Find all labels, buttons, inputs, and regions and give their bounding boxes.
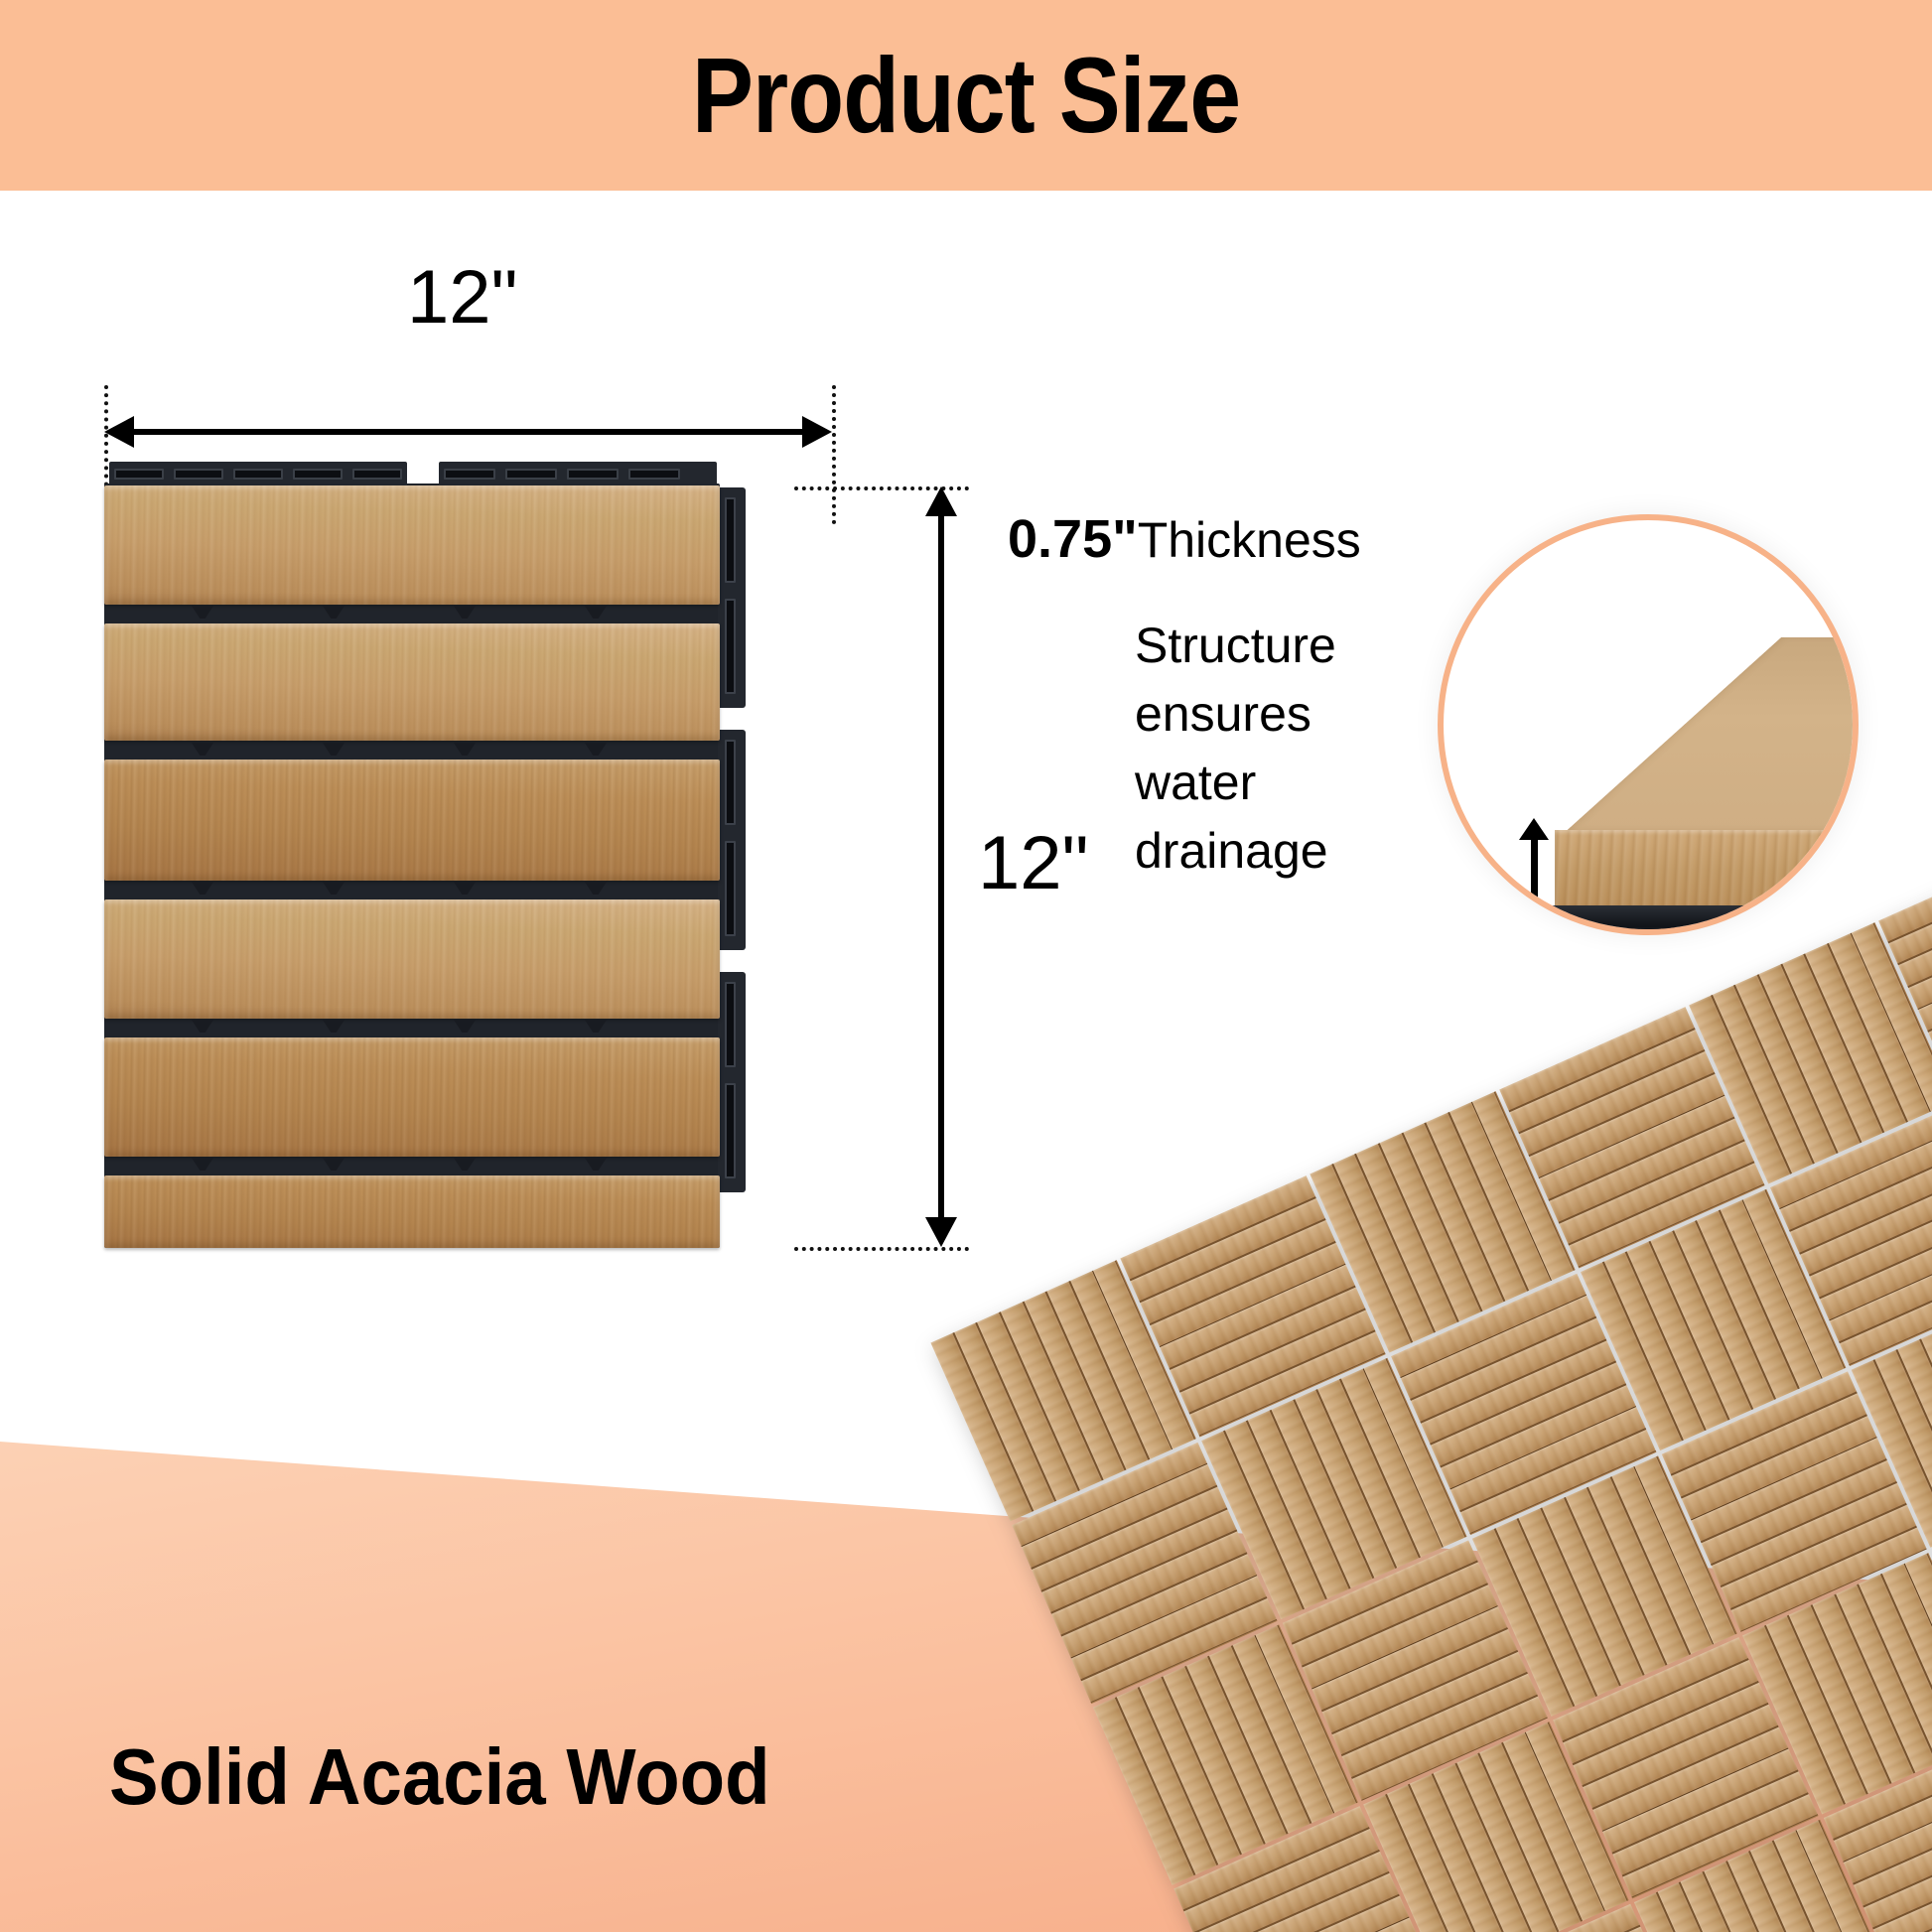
tile-top-interlock-tabs [109,462,717,485]
wood-slat [104,1175,720,1248]
tile-right-interlock-tabs [718,487,746,708]
wood-slat [104,899,720,1019]
tile-plastic-underlay [1543,905,1859,935]
drainage-description: Structure ensures water drainage [1135,612,1363,886]
wood-slat [104,759,720,881]
height-arrow-up-icon [925,486,957,516]
wood-slat [104,1037,720,1157]
width-dimension-line [117,429,824,435]
width-arrow-right-icon [802,416,832,448]
width-arrow-left-icon [104,416,134,448]
height-arrow-down-icon [925,1217,957,1247]
thickness-headline: 0.75"Thickness [1008,512,1425,566]
thickness-callout: 0.75"Thickness Structure ensures water d… [1008,512,1425,886]
infographic-canvas: Product Size 12" [0,0,1932,1932]
tile-right-interlock-tabs-3 [718,972,746,1192]
page-title: Product Size [692,42,1240,149]
thickness-value: 0.75" [1008,509,1138,569]
product-tile-photo [104,483,720,1248]
height-dimension-line [938,498,944,1235]
edge-profile-inset [1438,514,1859,935]
extension-line-right [832,385,836,524]
thickness-unit-label: Thickness [1138,512,1361,568]
footer-title: Solid Acacia Wood [109,1737,770,1817]
wood-slat [104,485,720,605]
extension-line-bottom [794,1247,969,1251]
tile-right-interlock-tabs-2 [718,730,746,950]
header-banner: Product Size [0,0,1932,191]
tile-top-surface [1561,637,1859,836]
tile-edge-face [1555,830,1859,911]
wood-slat [104,623,720,741]
width-dimension-label: 12" [407,260,518,336]
